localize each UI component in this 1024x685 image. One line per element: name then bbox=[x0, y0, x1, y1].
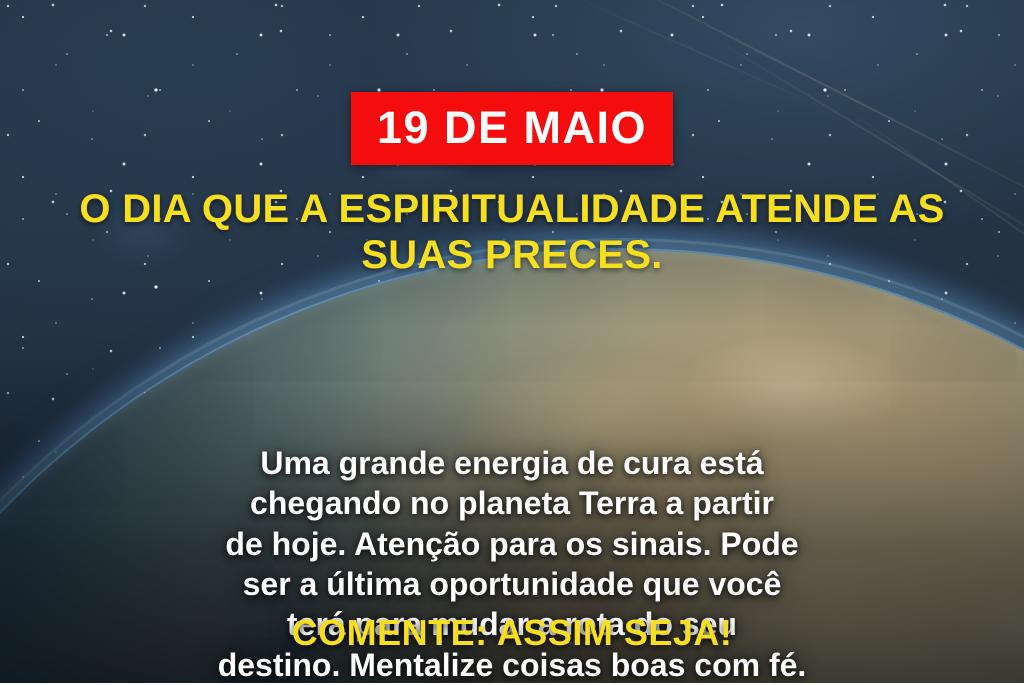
body-copy-line-3: de hoje. Atenção para os sinais. Pode bbox=[62, 524, 962, 564]
poster-canvas: 19 DE MAIO O DIA QUE A ESPIRITUALIDADE A… bbox=[0, 0, 1024, 685]
body-copy-line-4: ser a última oportunidade que você bbox=[62, 564, 962, 604]
headline-line-1: O DIA QUE A ESPIRITUALIDADE bbox=[79, 187, 705, 231]
call-to-action: COMENTE: ASSIM SEJA! bbox=[292, 612, 733, 654]
date-badge: 19 DE MAIO bbox=[351, 92, 673, 165]
body-copy-line-2: chegando no planeta Terra a partir bbox=[62, 483, 962, 523]
headline: O DIA QUE A ESPIRITUALIDADE ATENDE AS SU… bbox=[62, 187, 962, 278]
body-copy-line-1: Uma grande energia de cura está bbox=[62, 443, 962, 483]
